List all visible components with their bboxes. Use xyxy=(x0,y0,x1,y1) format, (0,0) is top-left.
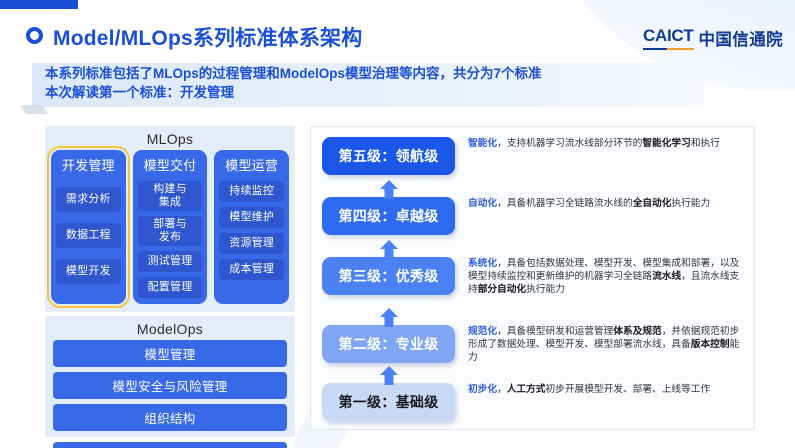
maturity-level-description: 智能化，支持机器学习流水线部分环节的智能化学习和执行 xyxy=(468,137,742,150)
mlops-item[interactable]: 测试管理 xyxy=(138,251,203,272)
modelops-block: ModelOps 模型管理模型安全与风险管理组织结构 xyxy=(45,316,295,437)
modelops-title: ModelOps xyxy=(53,321,287,337)
ring-icon xyxy=(26,27,43,44)
maturity-level-box[interactable]: 第一级：基础级 xyxy=(322,383,455,421)
modelops-bars: 模型管理模型安全与风险管理组织结构 xyxy=(53,340,287,431)
mlops-item[interactable]: 数据工程 xyxy=(56,223,121,248)
brand-latin-mark: CAICT xyxy=(643,26,693,50)
subtitle-line-1: 本系列标准包括了MLOps的过程管理和ModelOps模型治理等内容，共分为7个… xyxy=(45,64,705,83)
mlops-item[interactable]: 资源管理 xyxy=(219,233,284,254)
maturity-level-description: 初步化，人工方式初步开展模型开发、部署、上线等工作 xyxy=(468,383,742,396)
maturity-level-description: 规范化，具备模型研发和运营管理体系及规范，并依据规范初步形成了数据处理、模型开发… xyxy=(468,325,742,365)
maturity-level-row-3: 第三级：优秀级系统化，具备包括数据处理、模型开发、模型集成和部署，以及模型持续监… xyxy=(311,257,754,297)
up-arrow-icon xyxy=(378,239,400,261)
mlops-item[interactable]: 部署与发布 xyxy=(138,216,203,246)
caict-logo: CAICT 中国信通院 xyxy=(643,26,783,50)
modelops-bar[interactable]: 组织结构 xyxy=(53,404,287,431)
brand-latin-text: CAICT xyxy=(643,26,693,45)
mlops-item[interactable]: 持续监控 xyxy=(219,181,284,202)
mlops-title: MLOps xyxy=(51,131,289,147)
mlops-column-1[interactable]: 开发管理需求分析数据工程模型开发 xyxy=(51,150,126,304)
page-title: Model/MLOps系列标准体系架构 xyxy=(53,22,362,52)
mlops-column-head: 模型交付 xyxy=(138,154,203,176)
mlops-item[interactable]: 成本管理 xyxy=(219,259,284,280)
mlops-item[interactable]: 模型维护 xyxy=(219,207,284,228)
mlops-item[interactable]: 模型开发 xyxy=(56,259,121,284)
maturity-level-box[interactable]: 第二级：专业级 xyxy=(322,325,455,363)
maturity-levels-panel: 第五级：领航级智能化，支持机器学习流水线部分环节的智能化学习和执行第四级：卓越级… xyxy=(310,126,755,430)
mlops-column-head: 模型运营 xyxy=(219,154,284,176)
tools-bar[interactable]: 系统与工具 xyxy=(53,442,287,448)
mlops-block: MLOps 开发管理需求分析数据工程模型开发模型交付构建与集成部署与发布测试管理… xyxy=(45,126,295,312)
subtitle-text: 本系列标准包括了MLOps的过程管理和ModelOps模型治理等内容，共分为7个… xyxy=(45,64,705,102)
brand-underline xyxy=(643,48,693,51)
slide-root: Model/MLOps系列标准体系架构 CAICT 中国信通院 本系列标准包括了… xyxy=(0,0,795,448)
mlops-columns: 开发管理需求分析数据工程模型开发模型交付构建与集成部署与发布测试管理配置管理模型… xyxy=(51,150,289,304)
maturity-level-description: 自动化，具备机器学习全链路流水线的全自动化执行能力 xyxy=(468,197,742,210)
modelops-bar[interactable]: 模型安全与风险管理 xyxy=(53,372,287,399)
maturity-level-box[interactable]: 第五级：领航级 xyxy=(322,137,455,175)
up-arrow-icon xyxy=(378,179,400,201)
mlops-column-head: 开发管理 xyxy=(56,154,121,176)
subtitle-line-2: 本次解读第一个标准：开发管理 xyxy=(45,83,705,102)
maturity-level-box[interactable]: 第四级：卓越级 xyxy=(322,197,455,235)
maturity-level-row-5: 第五级：领航级智能化，支持机器学习流水线部分环节的智能化学习和执行 xyxy=(311,137,754,175)
up-arrow-icon xyxy=(378,307,400,329)
mlops-item[interactable]: 需求分析 xyxy=(56,187,121,212)
maturity-level-row-1: 第一级：基础级初步化，人工方式初步开展模型开发、部署、上线等工作 xyxy=(311,383,754,421)
up-arrow-icon xyxy=(378,365,400,387)
brand-chinese-text: 中国信通院 xyxy=(699,26,784,50)
top-accent-bar xyxy=(0,0,78,9)
modelops-bar[interactable]: 模型管理 xyxy=(53,340,287,367)
tools-bar-wrap: 系统与工具 xyxy=(45,442,295,448)
slide-header: Model/MLOps系列标准体系架构 CAICT 中国信通院 xyxy=(0,18,795,58)
mlops-item[interactable]: 构建与集成 xyxy=(138,181,203,211)
maturity-level-row-4: 第四级：卓越级自动化，具备机器学习全链路流水线的全自动化执行能力 xyxy=(311,197,754,235)
mlops-item[interactable]: 配置管理 xyxy=(138,277,203,298)
architecture-left-panel: MLOps 开发管理需求分析数据工程模型开发模型交付构建与集成部署与发布测试管理… xyxy=(45,126,295,448)
maturity-level-description: 系统化，具备包括数据处理、模型开发、模型集成和部署，以及模型持续监控和更新维护的… xyxy=(468,257,742,297)
maturity-level-row-2: 第二级：专业级规范化，具备模型研发和运营管理体系及规范，并依据规范初步形成了数据… xyxy=(311,325,754,365)
mlops-column-2[interactable]: 模型交付构建与集成部署与发布测试管理配置管理 xyxy=(133,150,208,304)
maturity-level-box[interactable]: 第三级：优秀级 xyxy=(322,257,455,295)
mlops-column-3[interactable]: 模型运营持续监控模型维护资源管理成本管理 xyxy=(214,150,289,304)
